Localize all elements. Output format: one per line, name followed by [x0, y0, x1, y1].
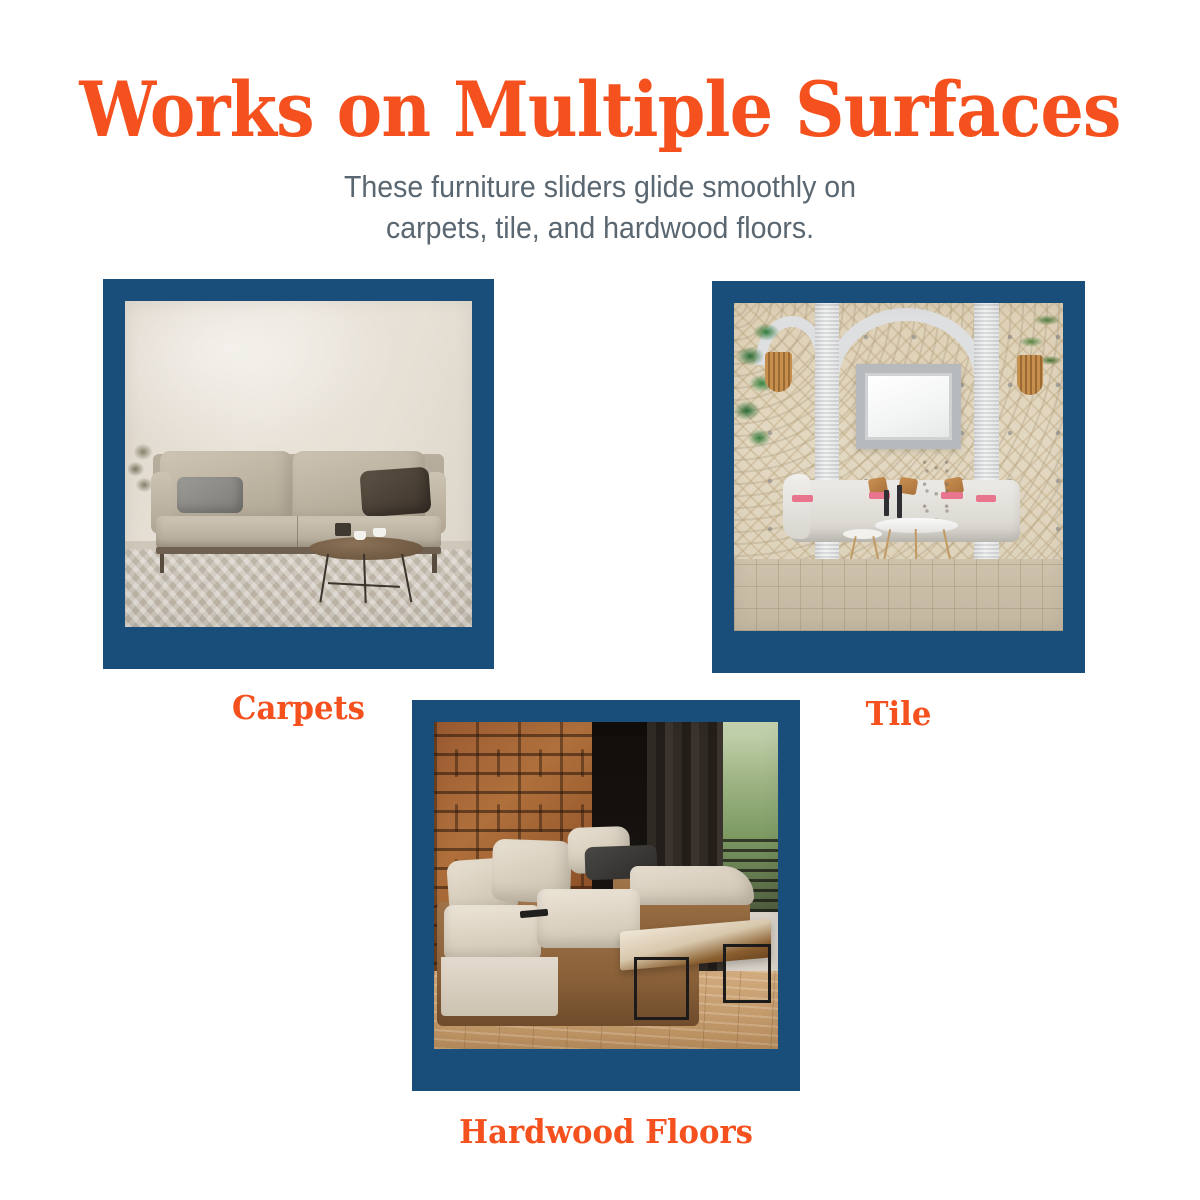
grey-throw-pillow — [177, 477, 243, 513]
dark-throw-pillow — [359, 467, 431, 517]
page-subtitle: These furniture sliders glide smoothly o… — [48, 166, 1152, 248]
framed-mirror — [856, 364, 961, 449]
subtitle-line-2: carpets, tile, and hardwood floors. — [48, 207, 1152, 248]
chaise-seat-cushion — [630, 866, 754, 905]
tile-sofa-arm — [783, 474, 809, 540]
candlestick-1 — [884, 490, 889, 516]
coffee-cup-1 — [354, 531, 366, 539]
oval-coffee-table-legs — [882, 529, 951, 562]
plant-decor — [128, 444, 152, 509]
sofa-skirt — [441, 957, 558, 1016]
wall-sconce-right — [1017, 355, 1043, 394]
subtitle-line-1: These furniture sliders glide smoothly o… — [48, 166, 1152, 207]
coffee-table-legs — [319, 554, 409, 603]
pink-accent-4 — [976, 495, 996, 503]
page-title: Works on Multiple Surfaces — [60, 72, 1140, 148]
hardwood-photo — [434, 722, 778, 1049]
dried-branch-vase — [918, 460, 957, 519]
coffee-pot — [335, 523, 351, 536]
surface-card-hardwood — [412, 700, 800, 1091]
coffee-cup-2 — [373, 528, 385, 537]
coffee-table-leg-front — [634, 957, 689, 1019]
herringbone-floor — [125, 549, 472, 627]
caption-hardwood: Hardwood Floors — [426, 1112, 787, 1151]
seat-cushion-seam — [297, 516, 298, 549]
palm-plant — [734, 323, 780, 474]
tile-photo — [734, 303, 1063, 631]
pink-accent-1 — [792, 495, 813, 503]
candlestick-2 — [897, 485, 902, 518]
pillar-left — [815, 303, 840, 592]
pillar-right — [974, 303, 999, 592]
geometric-tile-floor — [734, 559, 1063, 631]
surface-card-carpets — [103, 279, 494, 669]
coffee-table-leg-back — [723, 944, 771, 1003]
sofa-leg-right — [432, 554, 437, 574]
carpets-photo — [125, 301, 472, 627]
surface-card-tile — [712, 281, 1085, 673]
wall-sconce-left — [765, 352, 791, 391]
header: Works on Multiple Surfaces These furnitu… — [0, 0, 1200, 248]
infographic-page: Works on Multiple Surfaces These furnitu… — [0, 0, 1200, 1200]
sofa-leg-left — [160, 554, 165, 574]
